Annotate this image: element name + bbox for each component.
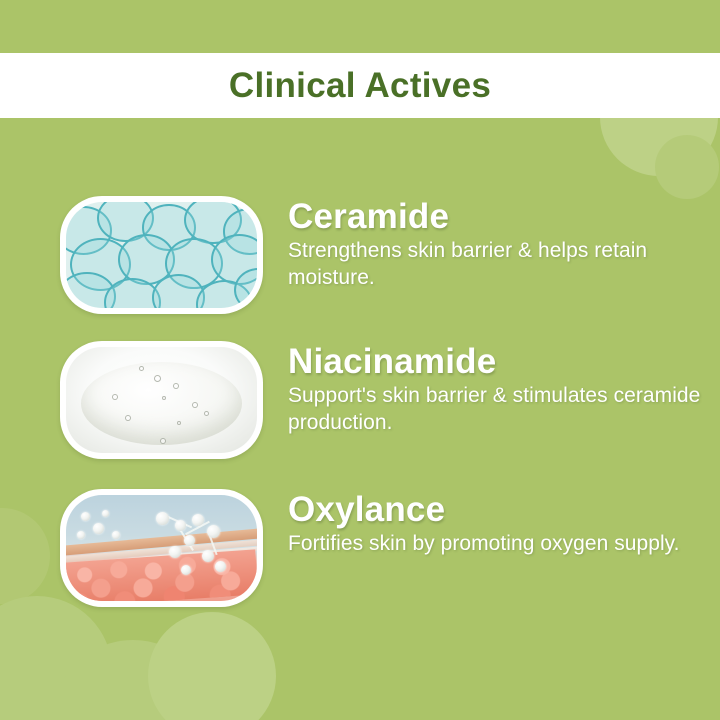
title-banner: Clinical Actives: [0, 53, 720, 118]
ingredient-row-ceramide: Ceramide Strengthens skin barrier & help…: [0, 196, 720, 314]
ceramide-text-block: Ceramide Strengthens skin barrier & help…: [288, 196, 720, 291]
ingredient-description: Support's skin barrier & stimulates cera…: [288, 383, 720, 436]
ceramide-bubbles-icon: [66, 202, 257, 308]
ingredient-name: Niacinamide: [288, 343, 720, 380]
ingredient-description: Strengthens skin barrier & helps retain …: [288, 238, 720, 291]
oxylance-skin-layers-icon: [66, 495, 257, 601]
oxylance-thumbnail-card: [60, 489, 263, 607]
ingredient-name: Oxylance: [288, 491, 720, 528]
ingredient-row-niacinamide: Niacinamide Support's skin barrier & sti…: [0, 341, 720, 459]
ingredient-name: Ceramide: [288, 198, 720, 235]
clinical-actives-poster: Clinical Actives Ceramide: [0, 0, 720, 720]
decorative-circle-bottom-left-a: [0, 596, 112, 720]
decorative-circle-top-right-small: [655, 135, 719, 199]
oxylance-text-block: Oxylance Fortifies skin by promoting oxy…: [288, 489, 720, 558]
niacinamide-text-block: Niacinamide Support's skin barrier & sti…: [288, 341, 720, 436]
decorative-circle-bottom-left-b: [52, 640, 214, 720]
niacinamide-gel-icon: [66, 347, 257, 453]
page-title: Clinical Actives: [229, 68, 491, 103]
niacinamide-thumbnail-card: [60, 341, 263, 459]
ingredient-description: Fortifies skin by promoting oxygen suppl…: [288, 531, 720, 557]
ingredient-row-oxylance: Oxylance Fortifies skin by promoting oxy…: [0, 489, 720, 607]
ceramide-thumbnail-card: [60, 196, 263, 314]
decorative-circle-bottom-left-c: [148, 612, 276, 720]
